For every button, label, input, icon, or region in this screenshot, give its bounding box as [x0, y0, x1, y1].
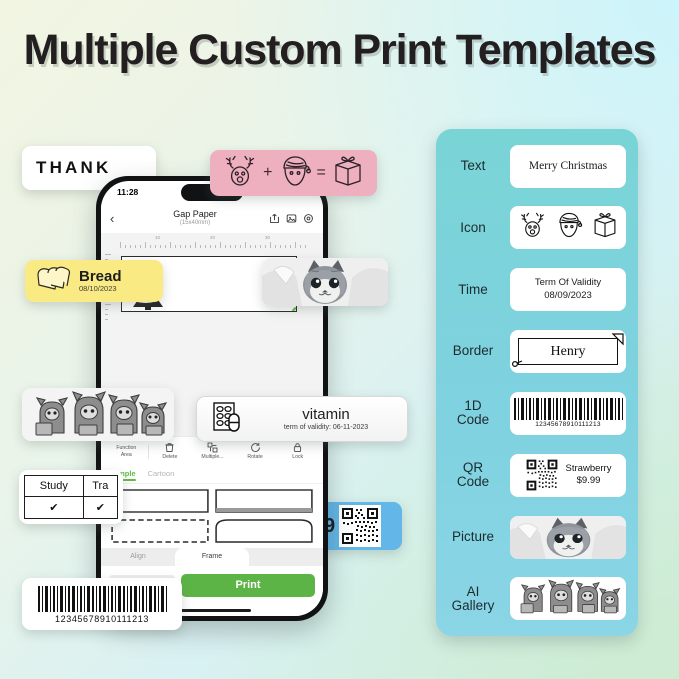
- panel-row-border[interactable]: Border Henry: [442, 327, 626, 377]
- chevron-left-icon[interactable]: ‹: [110, 212, 128, 225]
- panel-text-value: Merry Christmas: [529, 160, 607, 172]
- toolbar-multiple[interactable]: Multiple...: [191, 442, 234, 461]
- panel-label-border: Border: [442, 344, 504, 358]
- toolbar-label-function-2: Area: [121, 452, 132, 459]
- toolbar-label-rotate: Rotate: [247, 454, 262, 461]
- panel-card-qr-code[interactable]: Strawberry $9.99: [510, 454, 626, 497]
- tab-spacer: [249, 548, 323, 566]
- card-bread: Bread 08/10/2023: [25, 260, 163, 302]
- bread-name: Bread: [79, 269, 122, 286]
- card-christmas-formula: + =: [210, 150, 377, 196]
- template-types-panel: Text Merry Christmas Icon: [436, 129, 638, 636]
- panel-barcode-number: 12345678910111213: [535, 421, 601, 428]
- border-preview: Henry: [510, 330, 626, 373]
- navbar-subtitle: (15x40mm): [128, 220, 262, 226]
- ruler-label-h-1: 20: [210, 235, 215, 240]
- barcode-icon: [36, 585, 168, 613]
- ai-animals-illustration: [22, 388, 174, 441]
- bread-text: Bread 08/10/2023: [79, 269, 122, 294]
- panel-time-line1: Term Of Validity: [535, 277, 601, 289]
- multiple-select-icon: [207, 442, 218, 453]
- editor-bottom-tabs: Align Frame: [101, 548, 323, 566]
- tab-align[interactable]: Align: [101, 548, 175, 566]
- barcode-preview: 12345678910111213: [510, 398, 626, 428]
- panel-time-line2: 08/09/2023: [535, 290, 601, 302]
- panel-label-1d-code: 1D Code: [442, 399, 504, 427]
- bread-date: 08/10/2023: [79, 285, 122, 293]
- frame-options-grid: [101, 484, 323, 548]
- navbar-title: Gap Paper: [128, 210, 262, 219]
- gift-icon: [331, 154, 365, 193]
- panel-label-qr-line2: Code: [442, 475, 504, 489]
- settings-gear-icon[interactable]: [303, 213, 314, 224]
- panel-row-ai-gallery[interactable]: AI Gallery: [442, 574, 626, 624]
- panel-card-1d-code[interactable]: 12345678910111213: [510, 392, 626, 435]
- panel-label-1d-line1: 1D: [442, 399, 504, 413]
- santa-icon: [555, 210, 583, 245]
- equals-sign: =: [317, 164, 326, 182]
- vitamin-name: vitamin: [253, 406, 399, 423]
- reindeer-icon: [518, 210, 547, 245]
- santa-icon: [278, 154, 312, 193]
- panel-card-time[interactable]: Term Of Validity 08/09/2023: [510, 268, 626, 311]
- panel-label-ai-gallery: AI Gallery: [442, 585, 504, 613]
- panel-label-picture: Picture: [442, 530, 504, 544]
- panel-row-text[interactable]: Text Merry Christmas: [442, 141, 626, 191]
- card-cat-picture: [262, 258, 388, 306]
- qr-code-icon: [525, 458, 559, 492]
- qr-code-icon: [339, 505, 381, 547]
- resize-handle-icon[interactable]: ✥: [291, 306, 297, 312]
- panel-time-text: Term Of Validity 08/09/2023: [535, 277, 601, 302]
- plus-sign: +: [263, 164, 272, 182]
- print-button[interactable]: Print: [181, 574, 315, 597]
- barcode-icon: [512, 398, 624, 420]
- rotate-icon: [250, 442, 261, 453]
- save-image-icon[interactable]: [286, 213, 297, 224]
- tab-frame[interactable]: Frame: [175, 548, 249, 566]
- panel-label-text: Text: [442, 159, 504, 173]
- style-tabs: Simple Cartoon: [101, 466, 323, 484]
- barcode-number: 12345678910111213: [55, 614, 149, 624]
- cat-photo: [510, 516, 626, 559]
- pin-icon: [511, 358, 523, 370]
- bread-slices-icon: [35, 264, 71, 299]
- toolbar-delete[interactable]: Delete: [149, 442, 192, 461]
- page-title: Multiple Custom Print Templates: [0, 26, 679, 75]
- card-qr-blue: 9: [318, 502, 402, 550]
- ruler-label-h-2: 30: [265, 235, 270, 240]
- toolbar-function-area[interactable]: Function Area: [105, 445, 149, 459]
- frame-option-2[interactable]: [215, 489, 313, 513]
- table-cell-check-1: ✔: [25, 496, 84, 518]
- horizontal-ruler: 10 20 30: [115, 235, 323, 248]
- card-ai-animals: [22, 388, 174, 441]
- panel-label-icon: Icon: [442, 221, 504, 235]
- table-row: Study Tra ✔ ✔: [24, 475, 118, 519]
- panel-row-1d-code[interactable]: 1D Code: [442, 388, 626, 438]
- lock-icon: [292, 442, 303, 453]
- ruler-label-h-0: 10: [155, 235, 160, 240]
- border-name-value: Henry: [551, 344, 586, 360]
- reindeer-icon: [222, 154, 258, 193]
- frame-option-1[interactable]: [111, 489, 209, 513]
- panel-label-ai-line2: Gallery: [442, 599, 504, 613]
- panel-label-ai-line1: AI: [442, 585, 504, 599]
- table-header-tra: Tra: [83, 476, 117, 497]
- table-header-study: Study: [25, 476, 84, 497]
- panel-card-picture[interactable]: [510, 516, 626, 559]
- panel-row-icon[interactable]: Icon: [442, 203, 626, 253]
- panel-qr-line1: Strawberry: [566, 463, 612, 475]
- panel-row-time[interactable]: Time Term Of Validity 08/09/2023: [442, 265, 626, 315]
- panel-label-time: Time: [442, 283, 504, 297]
- ai-animals-illustration: [518, 578, 618, 619]
- navbar-icons: [262, 213, 314, 224]
- toolbar-rotate[interactable]: Rotate: [234, 442, 277, 461]
- panel-card-ai-gallery[interactable]: [510, 577, 626, 620]
- panel-label-qr-line1: QR: [442, 461, 504, 475]
- vitamin-validity: term of validity: 06-11-2023: [253, 424, 399, 432]
- toolbar-label-function-1: Function: [116, 445, 136, 452]
- panel-qr-text: Strawberry $9.99: [566, 463, 612, 487]
- card-thank-text: THANK: [36, 158, 112, 178]
- panel-card-icon[interactable]: [510, 206, 626, 249]
- toolbar-lock[interactable]: Lock: [276, 442, 319, 461]
- tab-cartoon[interactable]: Cartoon: [148, 469, 175, 480]
- toolbar-label-lock: Lock: [292, 454, 303, 461]
- panel-label-1d-line2: Code: [442, 413, 504, 427]
- status-time: 11:28: [117, 187, 138, 197]
- card-checklist-table: Study Tra ✔ ✔: [19, 470, 123, 524]
- border-box: Henry: [518, 338, 618, 365]
- frame-option-4[interactable]: [215, 519, 313, 543]
- frame-option-3[interactable]: [111, 519, 209, 543]
- trash-icon: [164, 442, 175, 453]
- card-barcode: 12345678910111213: [22, 578, 182, 630]
- app-navbar: ‹ Gap Paper (15x40mm): [101, 203, 323, 233]
- page-corner-icon: [611, 332, 625, 346]
- panel-qr-line2: $9.99: [566, 475, 612, 487]
- panel-card-border[interactable]: Henry: [510, 330, 626, 373]
- table-cell-check-2: ✔: [83, 496, 117, 518]
- panel-row-picture[interactable]: Picture: [442, 512, 626, 562]
- panel-card-text[interactable]: Merry Christmas: [510, 145, 626, 188]
- pill-blister-icon: [211, 401, 243, 438]
- share-icon[interactable]: [269, 213, 280, 224]
- toolbar-label-delete: Delete: [162, 454, 177, 461]
- panel-label-qr-code: QR Code: [442, 461, 504, 489]
- card-vitamin: vitamin term of validity: 06-11-2023: [196, 396, 408, 442]
- cat-photo: [262, 258, 388, 306]
- panel-row-qr-code[interactable]: QR Code: [442, 450, 626, 500]
- navbar-titles: Gap Paper (15x40mm): [128, 210, 262, 226]
- gift-icon: [591, 210, 619, 245]
- vitamin-text: vitamin term of validity: 06-11-2023: [253, 406, 407, 431]
- toolbar-label-multiple: Multiple...: [201, 454, 223, 461]
